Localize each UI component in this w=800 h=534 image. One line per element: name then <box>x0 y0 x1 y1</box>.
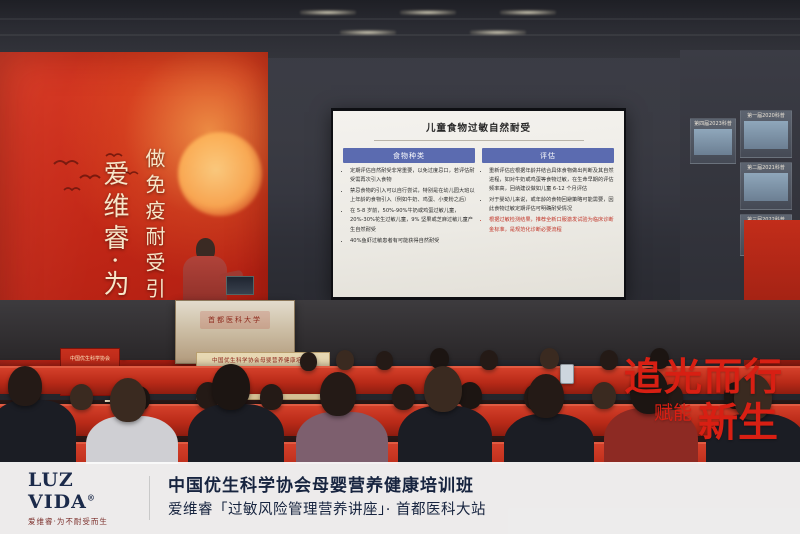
brand-logo: LUZ VIDA® 爱维睿·为不耐受而生 <box>0 476 150 520</box>
podium-emblem: 首都医科大学 <box>200 311 270 329</box>
audience-shoulders <box>188 404 284 464</box>
slide-column-body: 定期评估自然耐受非常重要，以免过度忌口，若评估耐受需再次引入食物 禁忌食物的引入… <box>343 167 475 246</box>
slide-bullet: 根据过敏检测结果，推荐全新口服激发试验为临床诊断金标准，是规范化诊断必要流程 <box>489 216 614 234</box>
audience-head <box>528 374 564 418</box>
poster-caption: 第四届2023科普 <box>691 119 735 129</box>
conference-photo: 爱维睿·为不耐受而生 做免疫耐受引领者 第一届2020科普 第二届2021科普 … <box>0 0 800 534</box>
wall-poster: 第四届2023科普 <box>690 118 736 164</box>
audience-shoulders <box>398 406 492 464</box>
audience-shoulders <box>0 400 76 464</box>
bottom-caption-bar: LUZ VIDA® 爱维睿·为不耐受而生 中国优生科学协会母婴营养健康培训班 爱… <box>0 462 800 534</box>
flying-birds-icon <box>46 148 166 198</box>
audience-head <box>424 366 462 412</box>
caption-text: 中国优生科学协会母婴营养健康培训班 爱维睿「过敏风险管理营养讲座」· 首都医科大… <box>150 474 486 521</box>
smartphone <box>560 364 574 384</box>
audience-head <box>630 368 668 414</box>
audience-head <box>392 384 415 410</box>
wall-poster: 第一届2020科普 <box>740 110 792 158</box>
poster-image <box>744 173 788 201</box>
audience-shoulders <box>504 414 594 464</box>
trademark-symbol: ® <box>87 493 96 503</box>
slide-bullet: 对于婴幼儿来说，或年龄的食物回避策略可能需要，因此食物过敏定期评估可明确耐受情况 <box>489 196 614 214</box>
audience-shoulders <box>706 414 800 464</box>
audience-shoulders <box>86 416 178 464</box>
poster-caption: 第一届2020科普 <box>741 111 791 121</box>
audience-head <box>320 372 356 416</box>
audience <box>0 330 800 464</box>
sun-icon <box>178 132 262 216</box>
wall-poster: 第二届2021科普 <box>740 162 792 210</box>
slide-bullet: 定期评估自然耐受非常重要，以免过度忌口，若评估耐受需再次引入食物 <box>350 167 475 185</box>
audience-head <box>110 378 146 422</box>
logo-name: LUZ VIDA® <box>28 469 149 513</box>
slide-column-assessment: 评估 重新评估应根据年龄并结合具体食物做出判断及其自然进程，如对牛奶或鸡蛋等食物… <box>482 148 614 248</box>
slide-title: 儿童食物过敏自然耐受 <box>333 120 624 134</box>
audience-head <box>376 351 393 370</box>
poster-caption: 第二届2021科普 <box>741 163 791 173</box>
slide-column-header: 评估 <box>482 148 614 163</box>
audience-head <box>260 384 283 410</box>
projection-screen: 儿童食物过敏自然耐受 食物种类 定期评估自然耐受非常重要，以免过度忌口，若评估耐… <box>333 111 624 297</box>
audience-shoulders <box>296 412 388 464</box>
slide-column-body: 重新评估应根据年龄并结合具体食物做出判断及其自然进程，如对牛奶或鸡蛋等食物过敏，… <box>482 167 614 235</box>
caption-line-2: 爱维睿「过敏风险管理营养讲座」· 首都医科大站 <box>168 500 486 522</box>
audience-head <box>480 350 498 370</box>
slide-bullet: 禁忌食物的引入可以自行尝试，特别是在幼儿园大班以上年龄的食物引入（例如牛奶、鸡蛋… <box>350 187 475 205</box>
audience-head <box>540 348 559 369</box>
audience-head <box>734 374 772 420</box>
audience-head <box>336 350 354 370</box>
audience-head <box>212 364 250 410</box>
slide-column-header: 食物种类 <box>343 148 475 163</box>
caption-line-1: 中国优生科学协会母婴营养健康培训班 <box>168 474 486 500</box>
poster-image <box>744 121 788 149</box>
logo-wordmark: LUZ VIDA <box>28 469 87 513</box>
slide-bullet: 在 5-8 岁前，50%-90%牛奶或鸡蛋过敏儿童，20%-30%花生过敏儿童，… <box>350 207 475 234</box>
laptop <box>226 276 254 295</box>
logo-tagline: 爱维睿·为不耐受而生 <box>28 516 149 527</box>
audience-shoulders <box>604 408 698 464</box>
slide-bullet: 40%鱼虾过敏患者有可能获得自然耐受 <box>350 237 475 246</box>
audience-head <box>70 384 93 410</box>
audience-head <box>300 352 317 371</box>
poster-image <box>694 129 732 155</box>
audience-head <box>600 350 618 370</box>
audience-head <box>8 366 42 406</box>
audience-head <box>650 348 669 369</box>
slide-bullet: 重新评估应根据年龄并结合具体食物做出判断及其自然进程，如对牛奶或鸡蛋等食物过敏，… <box>489 167 614 194</box>
audience-head <box>592 382 616 409</box>
slide-column-food-types: 食物种类 定期评估自然耐受非常重要，以免过度忌口，若评估耐受需再次引入食物 禁忌… <box>343 148 475 248</box>
projection-screen-frame: 儿童食物过敏自然耐受 食物种类 定期评估自然耐受非常重要，以免过度忌口，若评估耐… <box>331 108 626 300</box>
